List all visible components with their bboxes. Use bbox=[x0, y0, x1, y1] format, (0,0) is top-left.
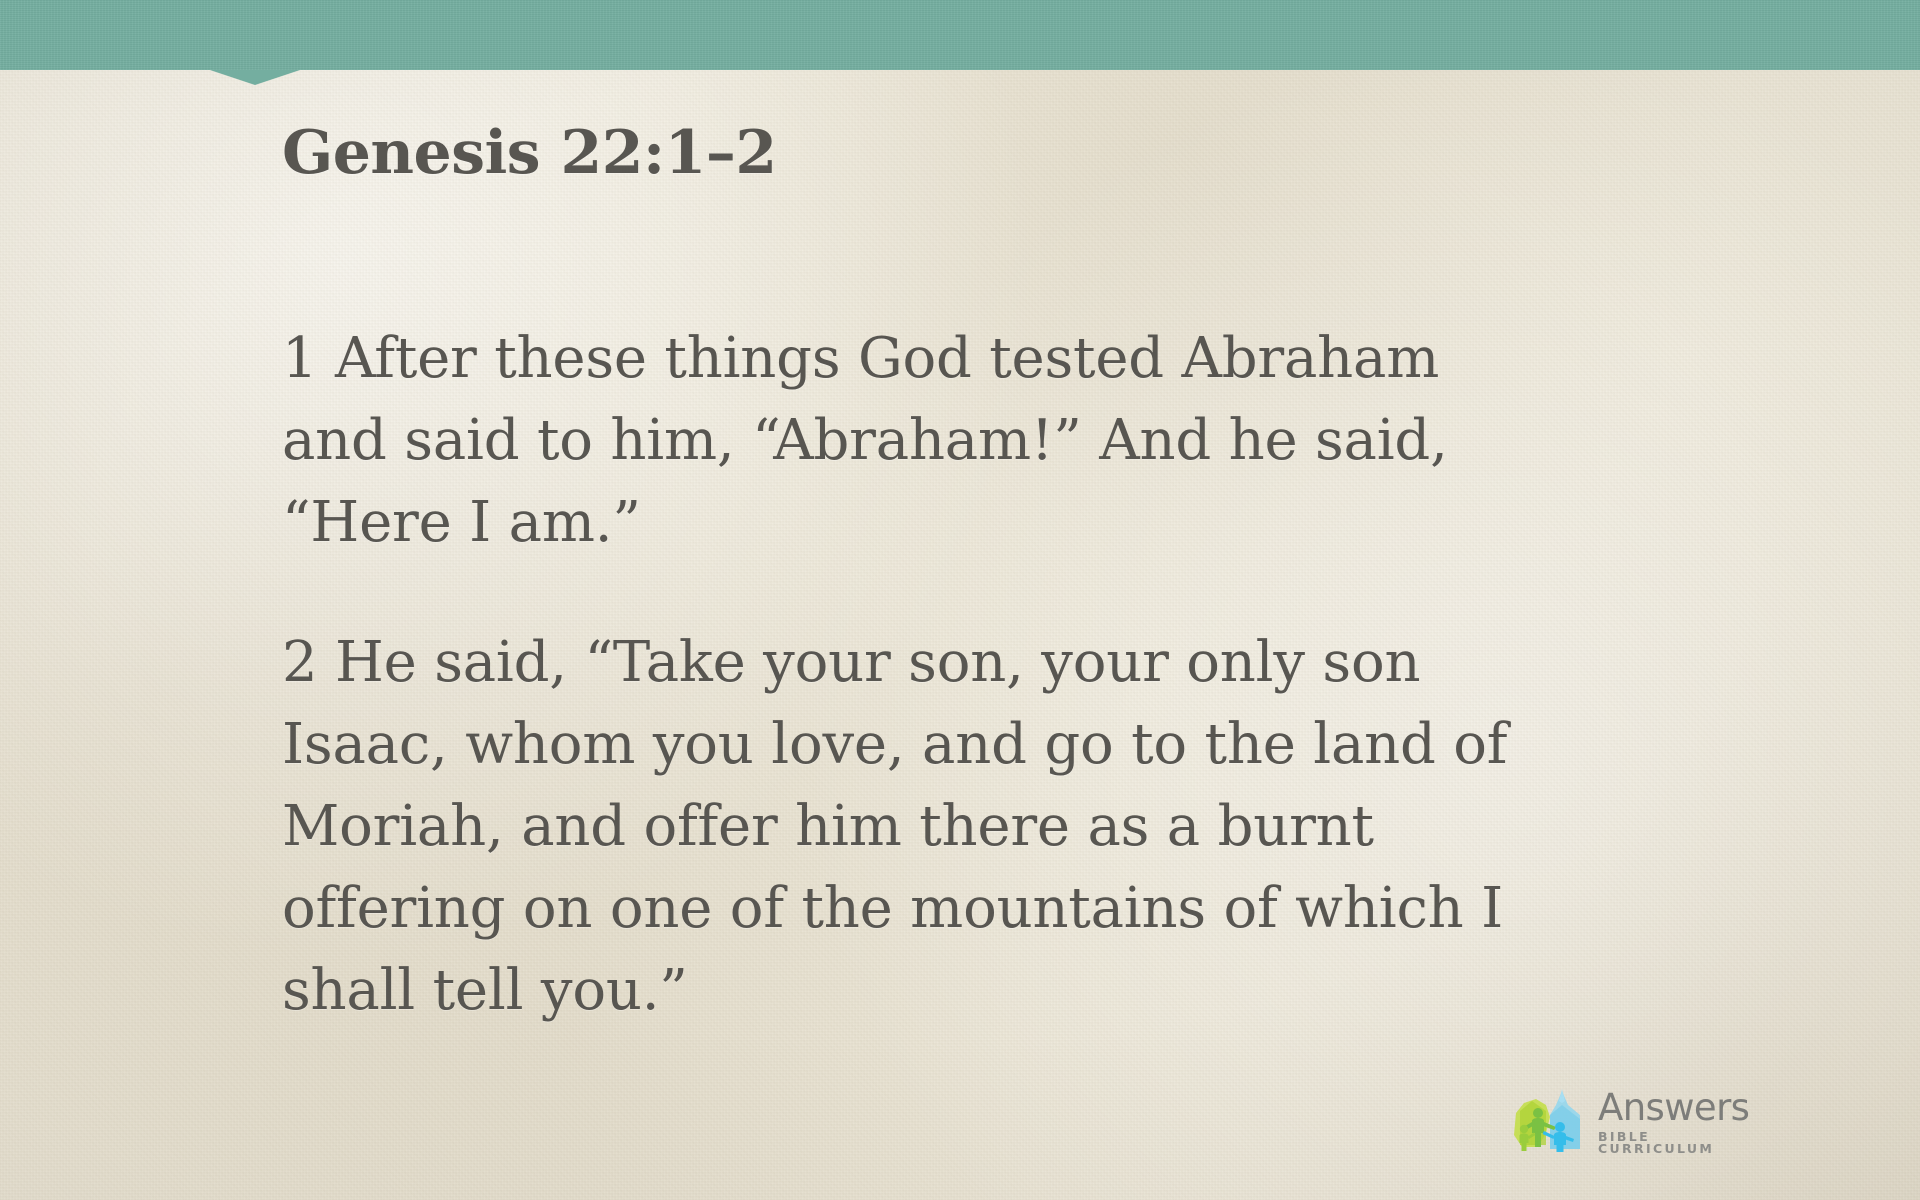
verse-line: Moriah, and offer him there as a burnt bbox=[282, 786, 1802, 868]
logo-tagline: BIBLE CURRICULUM bbox=[1598, 1131, 1749, 1156]
verse-paragraph-1: 1 After these things God tested Abraham … bbox=[282, 318, 1802, 564]
presentation-slide: Genesis 22:1–2 1 After these things God … bbox=[0, 0, 1920, 1200]
logo-wordmark: Answers bbox=[1598, 1089, 1749, 1126]
verse-line: shall tell you.” bbox=[282, 950, 1802, 1032]
verse-line: 2 He said, “Take your son, your only son bbox=[282, 622, 1802, 704]
page-title: Genesis 22:1–2 bbox=[282, 118, 777, 188]
verse-line: “Here I am.” bbox=[282, 482, 1802, 564]
verse-line: and said to him, “Abraham!” And he said, bbox=[282, 400, 1802, 482]
verse-line: 1 After these things God tested Abraham bbox=[282, 318, 1802, 400]
verse-paragraph-2: 2 He said, “Take your son, your only son… bbox=[282, 622, 1802, 1032]
header-teal-band bbox=[0, 0, 1920, 70]
verse-line: Isaac, whom you love, and go to the land… bbox=[282, 704, 1802, 786]
verse-line: offering on one of the mountains of whic… bbox=[282, 868, 1802, 950]
answers-bible-curriculum-logo: Answers BIBLE CURRICULUM bbox=[1512, 1086, 1734, 1158]
logo-mark-icon bbox=[1512, 1089, 1590, 1155]
logo-text-block: Answers BIBLE CURRICULUM bbox=[1598, 1089, 1749, 1156]
scripture-body: 1 After these things God tested Abraham … bbox=[282, 318, 1802, 1032]
header-notch-triangle bbox=[210, 70, 300, 85]
